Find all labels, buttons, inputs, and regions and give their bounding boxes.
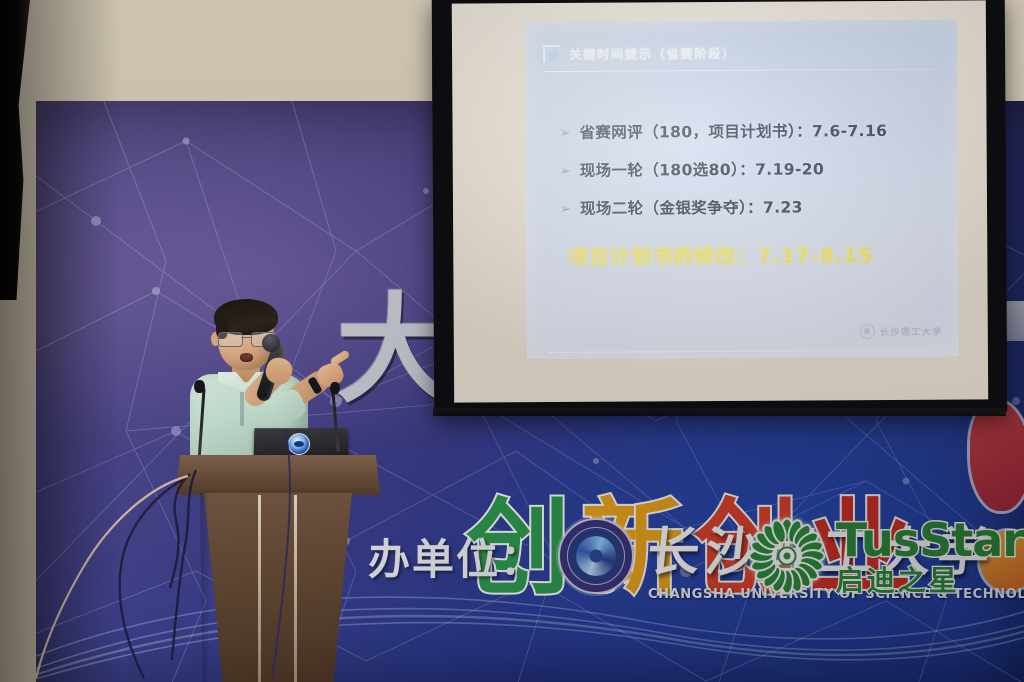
slide-title-row: 关键时间提示（省赛阶段） <box>543 43 736 63</box>
slide-bullet-0: ➢ 省赛网评（180，项目计划书）：7.6-7.16 <box>559 119 939 143</box>
slide-bullet-text-2: 现场二轮（金银奖争夺）：7.23 <box>580 195 803 218</box>
speaker-hair <box>214 299 278 335</box>
left-vignette <box>0 0 120 682</box>
banner-edge-shape-red <box>970 401 1024 511</box>
projection-screen-bottom-frame <box>433 408 1006 416</box>
projection-screen: 关键时间提示（省赛阶段） ➢ 省赛网评（180，项目计划书）：7.6-7.16 … <box>432 0 1008 415</box>
projection-screen-surface: 关键时间提示（省赛阶段） ➢ 省赛网评（180，项目计划书）：7.6-7.16 … <box>452 0 988 402</box>
slide-highlight-text: 项目计划书的修改：7.17-8.15 <box>568 239 873 270</box>
slide-bullet-text-1: 现场一轮（180选80）：7.19-20 <box>580 157 825 180</box>
podium-front-panel <box>194 493 362 682</box>
gooseneck-mic-right-head-icon <box>330 382 340 394</box>
presentation-slide: 关键时间提示（省赛阶段） ➢ 省赛网评（180，项目计划书）：7.6-7.16 … <box>525 20 959 360</box>
partner-logo-block: TusStar 启迪之星 <box>748 508 1024 604</box>
slide-watermark-text: 长沙理工大学 <box>880 325 943 338</box>
partner-name-block: TusStar 启迪之星 <box>836 517 1024 595</box>
speaker-mouth <box>240 353 253 362</box>
bullet-arrow-icon: ➢ <box>560 203 571 216</box>
slide-bullet-text-0: 省赛网评（180，项目计划书）：7.6-7.16 <box>579 119 887 143</box>
podium-stripe-left <box>258 495 261 682</box>
tusstar-flower-icon <box>748 517 826 595</box>
slide-title-divider <box>543 69 937 72</box>
gooseneck-mic-left-head-icon <box>194 380 205 393</box>
bracket-square-icon <box>543 45 560 62</box>
bullet-arrow-icon: ➢ <box>560 127 571 140</box>
podium-stripe-right <box>294 495 297 682</box>
slide-bullet-2: ➢ 现场二轮（金银奖争夺）：7.23 <box>560 195 940 219</box>
sponsor-label: 办单位： <box>368 526 544 587</box>
screenshot-root: 大学 创新创业 办单位： 长沙理工大学 CHANGSHA UNIVERSITY … <box>0 0 1024 682</box>
slide-title: 关键时间提示（省赛阶段） <box>569 43 736 63</box>
university-seal-icon <box>558 518 634 594</box>
partner-name-en: TusStar <box>836 517 1024 563</box>
podium <box>176 455 380 682</box>
podium-top-surface <box>176 455 380 495</box>
speaker-index-finger <box>329 349 350 366</box>
bullet-arrow-icon: ➢ <box>560 165 571 178</box>
slide-bullet-list: ➢ 省赛网评（180，项目计划书）：7.6-7.16 ➢ 现场一轮（180选80… <box>559 119 940 235</box>
watermark-seal-icon <box>860 324 875 339</box>
podium-side-shadow <box>190 493 210 682</box>
laptop-logo-sticker-icon <box>288 433 310 455</box>
partner-name-cn: 启迪之星 <box>836 567 1024 595</box>
speaker-shirt-placket <box>240 392 244 426</box>
slide-watermark: 长沙理工大学 <box>860 324 943 340</box>
slide-bottom-divider <box>549 350 937 353</box>
slide-bullet-1: ➢ 现场一轮（180选80）：7.19-20 <box>560 157 940 181</box>
